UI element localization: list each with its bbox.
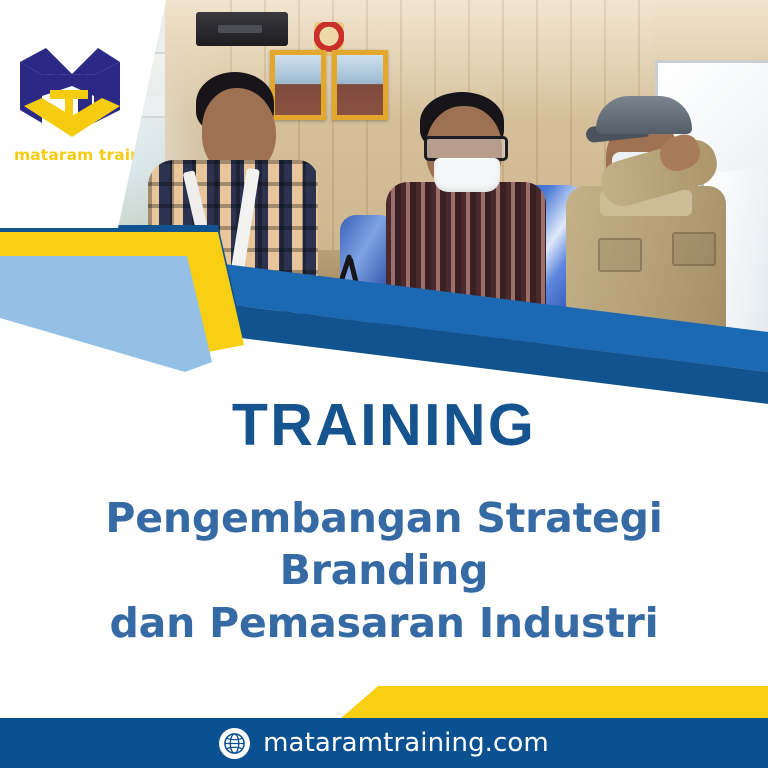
striped-shirt xyxy=(386,182,546,420)
page-subtitle: Pengembangan Strategi Branding dan Pemas… xyxy=(0,492,768,649)
globe-icon xyxy=(219,728,250,759)
jacket-pocket xyxy=(672,232,716,266)
framed-portrait-left xyxy=(270,50,326,120)
id-badge xyxy=(248,300,282,346)
water-bottle xyxy=(358,306,371,340)
face-mask-icon xyxy=(434,158,500,192)
mataram-m-cube-logo-icon xyxy=(16,44,124,140)
footer-bar: mataramtraining.com xyxy=(0,718,768,768)
subtitle-line-2: dan Pemasaran Industri xyxy=(0,597,768,649)
water-bottle xyxy=(336,300,349,334)
website-url[interactable]: mataramtraining.com xyxy=(263,728,549,758)
cap-icon xyxy=(596,96,692,134)
framed-portrait-right xyxy=(332,50,388,120)
yellow-accent-bar xyxy=(0,686,768,719)
training-poster: mataram training TRAINING Pengembangan S… xyxy=(0,0,768,768)
air-conditioner-icon xyxy=(196,12,288,46)
jacket-pocket xyxy=(598,238,642,272)
khaki-jacket xyxy=(566,186,726,420)
page-title: TRAINING xyxy=(0,396,768,455)
subtitle-line-1: Pengembangan Strategi Branding xyxy=(105,494,662,594)
